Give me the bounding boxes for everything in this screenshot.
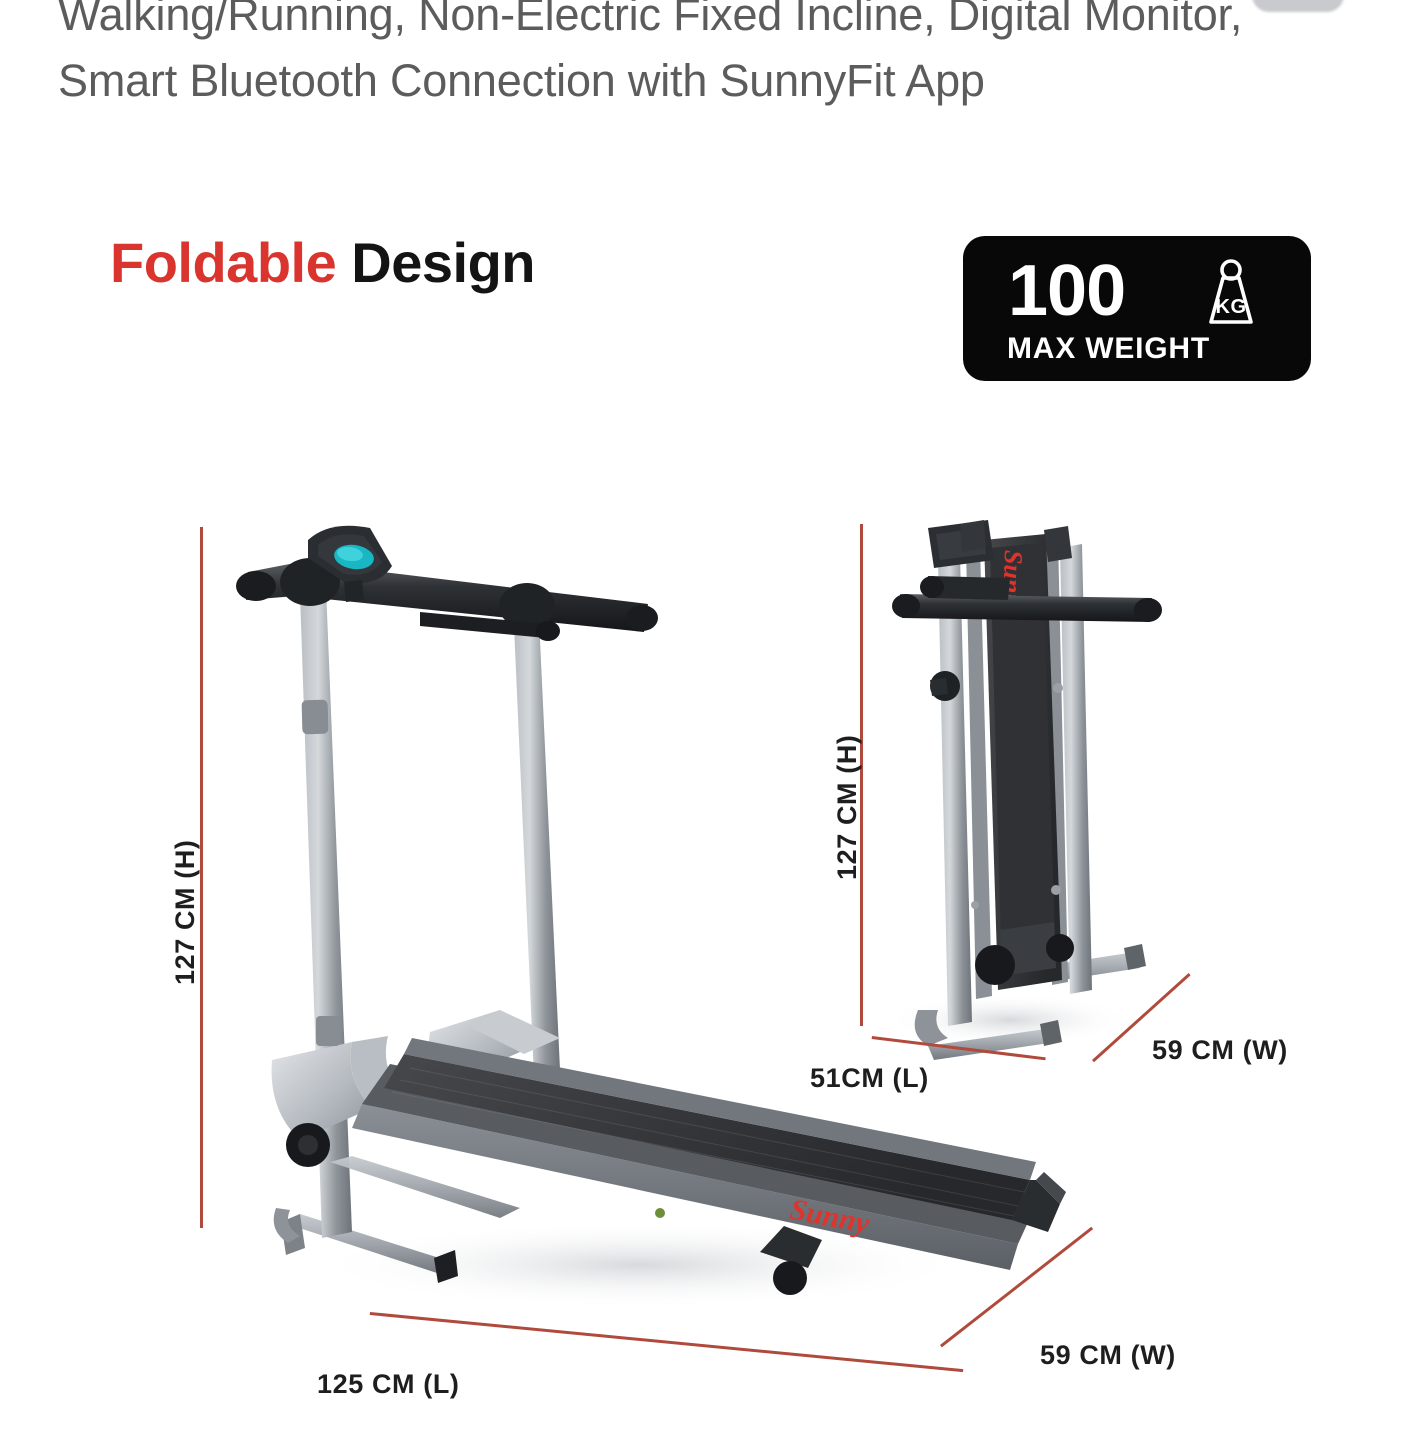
product-image-page: Walking/Running, Non-Electric Fixed Incl… bbox=[0, 0, 1402, 1440]
folded-width-label: 59 CM (W) bbox=[1152, 1035, 1288, 1066]
open-width-dimension-line bbox=[940, 1227, 1093, 1348]
treadmill-illustration: Sunny bbox=[0, 0, 1402, 1440]
page-title: Walking/Running, Non-Electric Fixed Incl… bbox=[58, 0, 1328, 114]
open-height-label: 127 CM (H) bbox=[170, 839, 201, 985]
max-weight-value: 100 bbox=[1008, 251, 1125, 331]
feature-heading-highlight: Foldable bbox=[110, 231, 336, 294]
weight-kg-icon: KG bbox=[1195, 258, 1267, 328]
open-length-label: 125 CM (L) bbox=[317, 1369, 460, 1400]
feature-heading: Foldable Design bbox=[110, 230, 535, 295]
feature-heading-rest: Design bbox=[351, 231, 535, 294]
folded-length-label: 51CM (L) bbox=[810, 1063, 929, 1094]
svg-text:Sunny: Sunny bbox=[997, 550, 1028, 621]
folded-length-dimension-line bbox=[872, 1036, 1046, 1060]
svg-text:Sunny: Sunny bbox=[787, 1193, 873, 1241]
open-width-label: 59 CM (W) bbox=[1040, 1340, 1176, 1371]
open-length-dimension-line bbox=[370, 1312, 964, 1372]
max-weight-caption: MAX WEIGHT bbox=[1007, 332, 1210, 366]
weight-unit-label: KG bbox=[1195, 296, 1267, 319]
folded-height-label: 127 CM (H) bbox=[832, 734, 863, 880]
max-weight-badge: 100 KG MAX WEIGHT bbox=[963, 236, 1311, 381]
